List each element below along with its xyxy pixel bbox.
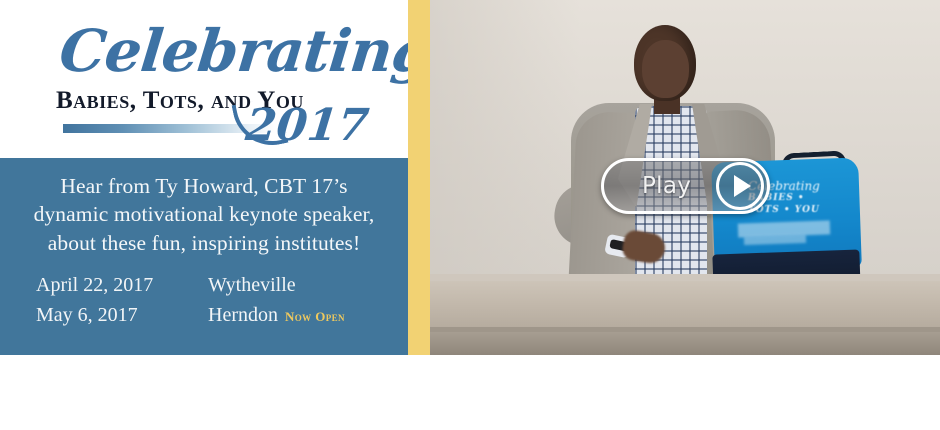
event-row: May 6, 2017 Herndon Now Open <box>36 301 394 331</box>
left-column: Celebrating Babies, Tots, and You 2017 H… <box>0 0 408 355</box>
video-wall-shading <box>430 0 580 277</box>
floor <box>430 332 940 355</box>
headline-line-3: about these fun, inspiring institutes! <box>14 229 394 257</box>
headline-line-2: dynamic motivational keynote speaker, <box>14 200 394 228</box>
speaker-face <box>642 40 689 98</box>
event-logo: Celebrating Babies, Tots, and You 2017 <box>0 0 408 158</box>
headline-line-1: Hear from Ty Howard, CBT 17’s <box>14 172 394 200</box>
event-list: April 22, 2017 Wytheville May 6, 2017 He… <box>14 271 394 330</box>
logo-year: 2017 <box>244 104 371 148</box>
wall-baseboard <box>430 281 940 333</box>
video-player[interactable]: Celebrating BABIES • TOTS • YOU Play <box>430 0 940 355</box>
event-row: April 22, 2017 Wytheville <box>36 271 394 301</box>
event-date: April 22, 2017 <box>36 271 208 301</box>
event-city: Wytheville <box>208 271 296 301</box>
promo-banner: Celebrating Babies, Tots, and You 2017 H… <box>0 0 940 430</box>
event-date: May 6, 2017 <box>36 301 208 331</box>
status-badge: Now Open <box>285 307 345 326</box>
promo-info-panel: Hear from Ty Howard, CBT 17’s dynamic mo… <box>0 158 408 355</box>
event-city: Herndon <box>208 301 278 331</box>
wall-trim-top <box>430 274 940 281</box>
play-triangle-icon <box>716 162 764 210</box>
gold-divider <box>408 0 430 355</box>
promo-headline: Hear from Ty Howard, CBT 17’s dynamic mo… <box>14 172 394 257</box>
play-button[interactable]: Play <box>601 158 770 214</box>
play-button-label: Play <box>642 173 691 199</box>
logo-script-word: Celebrating <box>57 22 408 80</box>
page-whitespace <box>0 355 940 430</box>
